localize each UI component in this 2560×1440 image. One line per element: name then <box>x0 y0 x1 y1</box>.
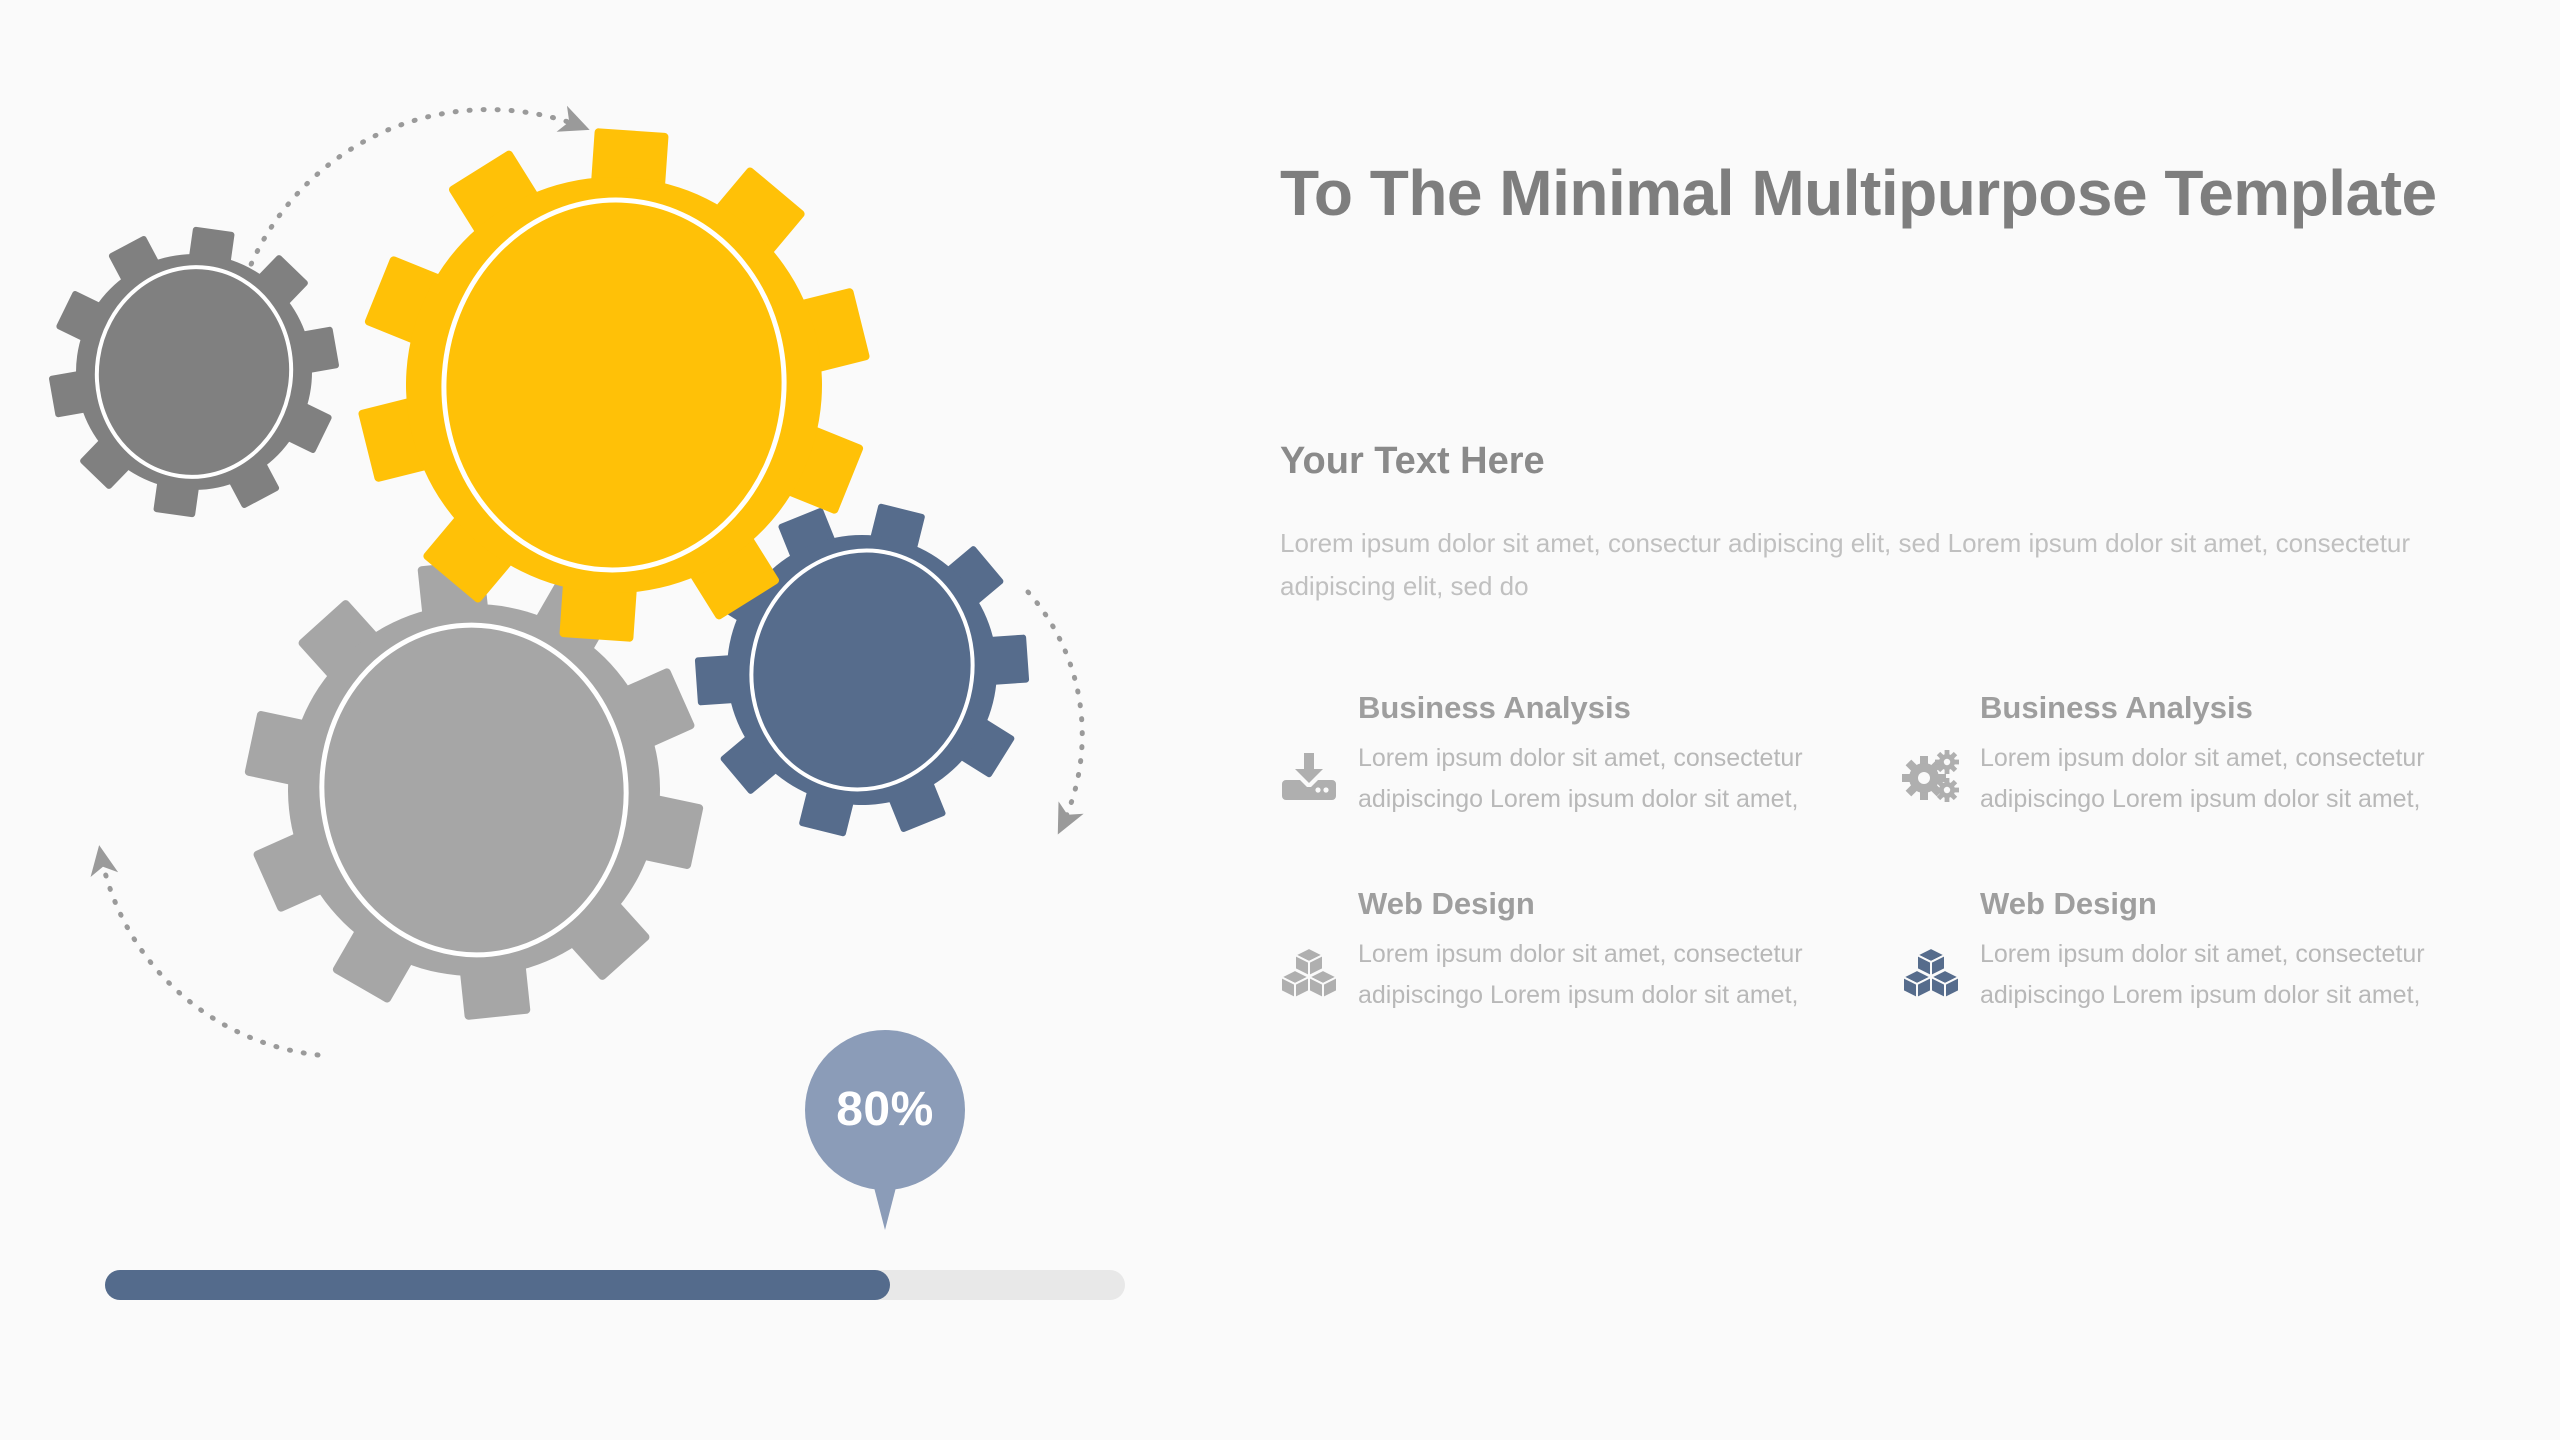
progress-badge-circle: 80% <box>805 1030 965 1190</box>
feature-title: Business Analysis <box>1980 690 2253 726</box>
feature-body: Lorem ipsum dolor sit amet, consectetur … <box>1980 738 2510 819</box>
gears-illustration: 80% <box>0 0 1180 1440</box>
progress-badge: 80% <box>805 1030 965 1190</box>
progress-badge-pointer-icon <box>869 1168 901 1230</box>
progress-track[interactable] <box>105 1270 1125 1300</box>
intro-paragraph: Lorem ipsum dolor sit amet, consectur ad… <box>1280 522 2460 608</box>
cubes-icon <box>1280 944 1338 1002</box>
section-subtitle: Your Text Here <box>1280 440 1545 483</box>
download-drive-icon <box>1280 748 1338 806</box>
slide-canvas: 80% To The Minimal Multipurpose Template… <box>0 0 2560 1440</box>
feature-body: Lorem ipsum dolor sit amet, consectetur … <box>1358 738 1888 819</box>
gear-gray-light-icon <box>224 540 723 1041</box>
feature-title: Business Analysis <box>1358 690 1631 726</box>
cubes-icon <box>1902 944 1960 1002</box>
feature-body: Lorem ipsum dolor sit amet, consectetur … <box>1980 934 2510 1015</box>
feature-body: Lorem ipsum dolor sit amet, consectetur … <box>1358 934 1888 1015</box>
gear-gray-dark-icon <box>32 209 356 534</box>
feature-title: Web Design <box>1358 886 1535 922</box>
page-title: To The Minimal Multipurpose Template <box>1280 158 2460 230</box>
cogs-icon <box>1902 748 1960 806</box>
progress-fill <box>105 1270 890 1300</box>
rotation-arc-right-icon <box>1028 592 1082 830</box>
content-column: To The Minimal Multipurpose Template You… <box>1280 0 2510 1440</box>
gears-svg <box>0 0 1180 1080</box>
progress-section: 80% <box>105 1030 1125 1330</box>
progress-badge-value: 80% <box>836 1086 934 1134</box>
feature-title: Web Design <box>1980 886 2157 922</box>
